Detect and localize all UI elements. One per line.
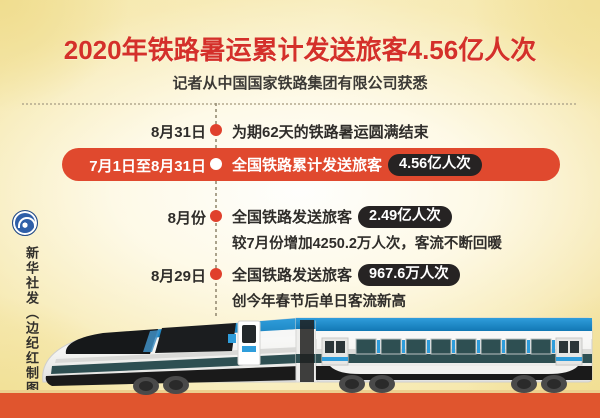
train-passenger-car [316, 318, 592, 393]
infographic-poster: 2020年铁路暑运累计发送旅客4.56亿人次 记者从中国国家铁路集团有限公司获悉… [0, 0, 600, 418]
carriage-windows [356, 339, 555, 354]
page-title: 2020年铁路暑运累计发送旅客4.56亿人次 [0, 30, 600, 67]
carriage-door-left [322, 338, 348, 365]
timeline-row-date: 8月份 [168, 207, 206, 228]
train-illustration [0, 296, 600, 396]
timeline-row-highlighted: 7月1日至8月31日 全国铁路累计发送旅客 4.56亿人次 [0, 148, 600, 181]
timeline-row-body: 为期62天的铁路暑运圆满结束 [232, 121, 429, 142]
timeline-row-body: 全国铁路发送旅客 2.49亿人次 [232, 206, 452, 228]
timeline-row-date: 8月31日 [151, 121, 206, 142]
timeline-row-badge: 4.56亿人次 [388, 154, 482, 176]
train-mid-section [296, 318, 318, 382]
page-subtitle: 记者从中国国家铁路集团有限公司获悉 [0, 72, 600, 93]
header-divider [22, 103, 578, 105]
timeline-row-text: 全国铁路累计发送旅客 [232, 154, 382, 175]
timeline-row: 8月31日 为期62天的铁路暑运圆满结束 [0, 118, 600, 144]
timeline-dot [210, 124, 222, 136]
timeline-row-date: 7月1日至8月31日 [89, 155, 206, 176]
timeline-row-text: 全国铁路发送旅客 [232, 264, 352, 285]
xinhua-logo-arc [18, 217, 36, 228]
timeline-row-text: 全国铁路发送旅客 [232, 206, 352, 227]
timeline-row-date: 8月29日 [151, 265, 206, 286]
timeline-dot [210, 158, 222, 170]
train-svg [0, 296, 600, 396]
timeline-row-body: 全国铁路发送旅客 967.6万人次 [232, 264, 460, 286]
timeline-row-body: 全国铁路累计发送旅客 4.56亿人次 [232, 154, 482, 176]
train-lead-car [43, 318, 300, 395]
ground-band [0, 393, 600, 418]
timeline-row-subtext: 较7月份增加4250.2万人次，客流不断回暖 [232, 232, 502, 253]
carriage-door-right [556, 338, 582, 365]
timeline-dot [210, 268, 222, 280]
timeline-row-text: 为期62天的铁路暑运圆满结束 [232, 121, 429, 142]
timeline-row-badge: 967.6万人次 [358, 264, 460, 286]
timeline-row-badge: 2.49亿人次 [358, 206, 452, 228]
timeline-dot [210, 210, 222, 222]
xinhua-logo-icon [12, 210, 38, 236]
timeline-row: 8月份 全国铁路发送旅客 2.49亿人次 较7月份增加4250.2万人次，客流不… [0, 205, 600, 255]
